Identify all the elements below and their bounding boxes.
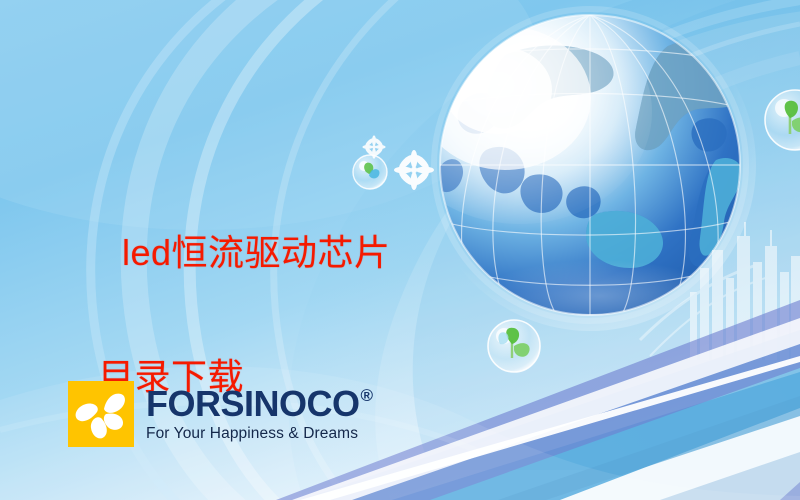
logo-wordmark-text: FORSINOCO [146,386,360,422]
headline-line-1: led恒流驱动芯片 [122,232,391,273]
bubble-sprout-icon [488,320,540,372]
registered-trademark-icon: ® [361,387,373,404]
headline-text: led恒流驱动芯片 目录下载 [80,160,391,500]
company-logo: FORSINOCO ® For Your Happiness & Dreams [68,381,373,447]
logo-text-block: FORSINOCO ® For Your Happiness & Dreams [146,386,373,442]
logo-tagline: For Your Happiness & Dreams [146,426,373,442]
promotional-banner: led恒流驱动芯片 目录下载 FORSINOCO [0,0,800,500]
pinwheel-four-petal-icon [68,381,134,447]
logo-wordmark: FORSINOCO ® [146,386,373,422]
